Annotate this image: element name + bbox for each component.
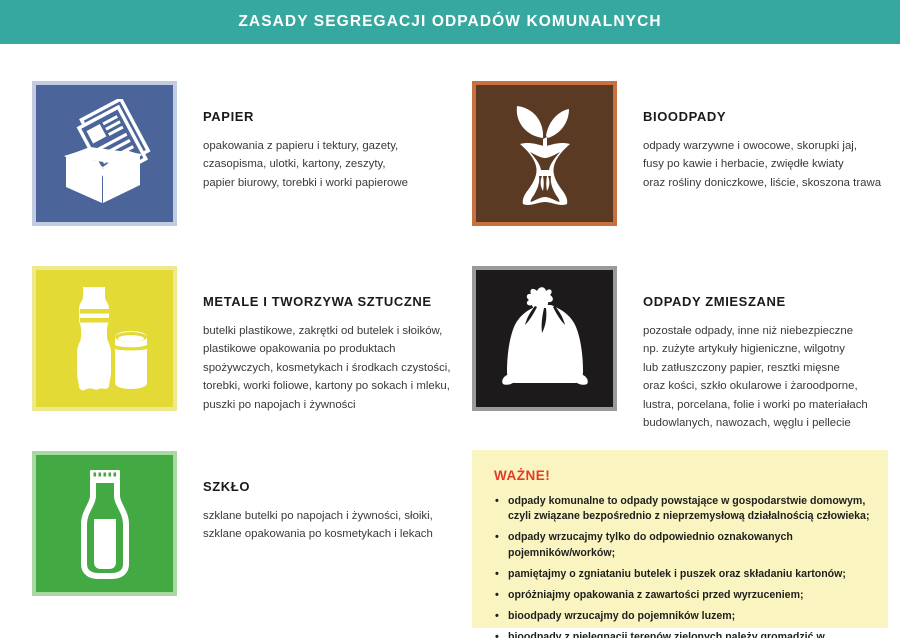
category-title: ODPADY ZMIESZANE (643, 294, 868, 309)
category-text-szklo: SZKŁO szklane butelki po napojach i żywn… (203, 451, 433, 544)
category-tile-bioodpady (472, 81, 617, 226)
category-text-bioodpady: BIOODPADY odpady warzywne i owocowe, sko… (643, 81, 881, 192)
trash-bag-icon (489, 283, 601, 395)
category-szklo: SZKŁO szklane butelki po napojach i żywn… (32, 451, 452, 596)
category-metale-i-tworzywa-sztuczne: METALE I TWORZYWA SZTUCZNE butelki plast… (32, 266, 452, 414)
category-text-papier: PAPIER opakowania z papieru i tektury, g… (203, 81, 408, 192)
category-title: METALE I TWORZYWA SZTUCZNE (203, 294, 451, 309)
category-description: odpady warzywne i owocowe, skorupki jaj,… (643, 137, 881, 192)
category-title: BIOODPADY (643, 109, 881, 124)
category-title: SZKŁO (203, 479, 433, 494)
list-item: odpady komunalne to odpady powstające w … (494, 494, 870, 525)
paper-box-icon (50, 99, 160, 209)
list-item: bioodpady z pielęgnacji terenów zielonyc… (494, 630, 870, 638)
category-description: szklane butelki po napojach i żywności, … (203, 507, 433, 544)
list-item: odpady wrzucajmy tylko do odpowiednio oz… (494, 530, 870, 561)
category-tile-papier (32, 81, 177, 226)
category-tile-zmieszane (472, 266, 617, 411)
list-item: bioodpady wrzucajmy do pojemników luzem; (494, 609, 870, 624)
important-box: WAŻNE! odpady komunalne to odpady powsta… (472, 450, 888, 628)
list-item: pamiętajmy o zgniataniu butelek i puszek… (494, 567, 870, 582)
category-description: pozostałe odpady, inne niż niebezpieczne… (643, 322, 868, 433)
header-banner: ZASADY SEGREGACJI ODPADÓW KOMUNALNYCH (0, 0, 900, 44)
category-papier: PAPIER opakowania z papieru i tektury, g… (32, 81, 452, 226)
bottle-and-can-icon (47, 279, 162, 399)
category-text-zmieszane: ODPADY ZMIESZANE pozostałe odpady, inne … (643, 266, 868, 433)
category-tile-szklo (32, 451, 177, 596)
page-title: ZASADY SEGREGACJI ODPADÓW KOMUNALNYCH (238, 13, 661, 31)
category-description: opakowania z papieru i tektury, gazety, … (203, 137, 408, 192)
category-title: PAPIER (203, 109, 408, 124)
apple-core-icon (490, 96, 600, 211)
important-title: WAŻNE! (494, 468, 870, 483)
important-bullet-list: odpady komunalne to odpady powstające w … (494, 494, 870, 638)
infographic-page: ZASADY SEGREGACJI ODPADÓW KOMUNALNYCH (0, 0, 900, 638)
list-item: opróżniajmy opakowania z zawartości prze… (494, 588, 870, 603)
category-description: butelki plastikowe, zakrętki od butelek … (203, 322, 451, 414)
category-odpady-zmieszane: ODPADY ZMIESZANE pozostałe odpady, inne … (472, 266, 892, 433)
glass-bottle-icon (50, 464, 160, 584)
category-bioodpady: BIOODPADY odpady warzywne i owocowe, sko… (472, 81, 892, 226)
category-text-metale: METALE I TWORZYWA SZTUCZNE butelki plast… (203, 266, 451, 414)
category-tile-metale (32, 266, 177, 411)
